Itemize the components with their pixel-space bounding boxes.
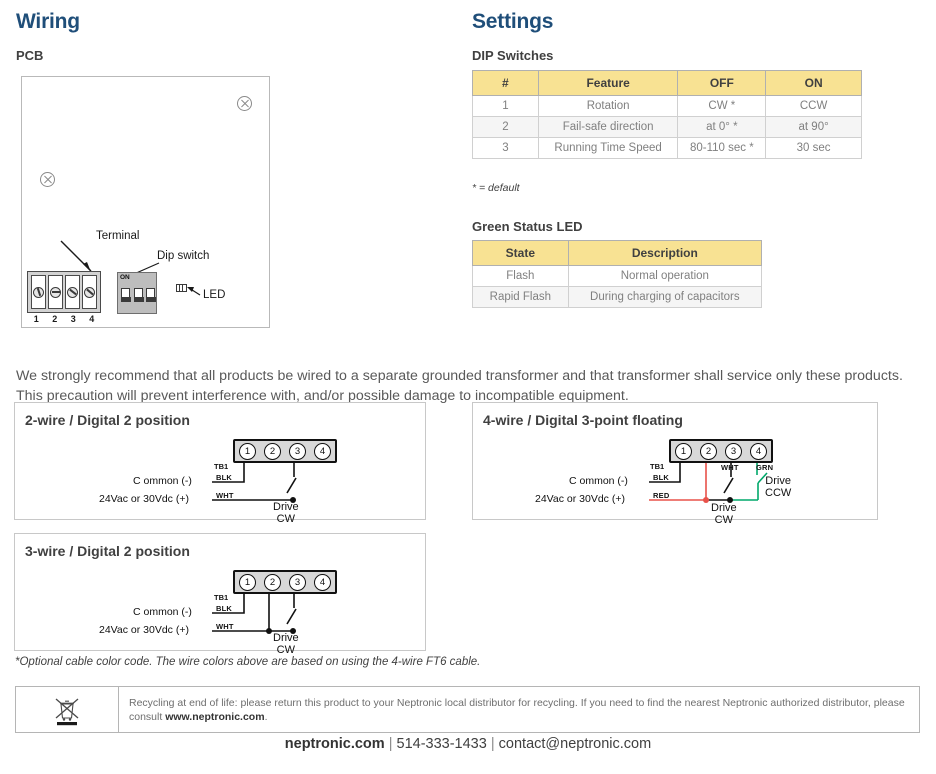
column-header: Feature	[538, 71, 678, 96]
cell: at 90°	[766, 117, 862, 138]
page-title-wiring: Wiring	[16, 10, 80, 34]
wire-label-wht: WHT	[216, 491, 234, 500]
led-icon	[176, 284, 187, 292]
terminal-screw-1	[31, 275, 46, 309]
cell: Fail-safe direction	[538, 117, 678, 138]
terminal-numbers: 1 2 3 4	[27, 314, 101, 324]
column-header: #	[473, 71, 539, 96]
subheading-pcb: PCB	[16, 48, 43, 63]
cell: 2	[473, 117, 539, 138]
dip-toggle-2	[134, 288, 143, 302]
table-header-row: State Description	[473, 241, 762, 266]
terminal-number: 1	[34, 314, 39, 324]
page-title-settings: Settings	[472, 10, 553, 34]
dip-switches-table: # Feature OFF ON 1 Rotation CW * CCW 2 F…	[472, 70, 862, 159]
label-supply: 24Vac or 30Vdc (+)	[535, 493, 625, 505]
dip-switch-component: ON	[117, 272, 157, 314]
label-drive-cw: DriveCW	[711, 502, 737, 526]
recycling-text-part2: .	[265, 711, 268, 723]
subheading-dip-switches: DIP Switches	[472, 48, 553, 63]
callout-terminal: Terminal	[96, 230, 139, 242]
wire-label-wht: WHT	[216, 622, 234, 631]
terminal-number: 2	[52, 314, 57, 324]
diagram-2-wire: 2-wire / Digital 2 position 1 2 3 4 TB1 …	[14, 402, 426, 520]
wire-label-grn: GRN	[756, 463, 773, 472]
wire-label-red: RED	[653, 491, 669, 500]
table-row: 3 Running Time Speed 80-110 sec * 30 sec	[473, 138, 862, 159]
wiring-schematic-4wire	[473, 403, 879, 521]
cell: Rapid Flash	[473, 287, 569, 308]
dip-on-label: ON	[120, 274, 130, 281]
label-common: C ommon (-)	[133, 606, 192, 618]
recycling-text: Recycling at end of life: please return …	[119, 687, 919, 732]
cell: 80-110 sec *	[678, 138, 766, 159]
label-common: C ommon (-)	[569, 475, 628, 487]
terminal-block	[27, 271, 101, 313]
table-header-row: # Feature OFF ON	[473, 71, 862, 96]
terminal-number: 3	[71, 314, 76, 324]
cell: 1	[473, 96, 539, 117]
cell: Running Time Speed	[538, 138, 678, 159]
callout-dip-switch: Dip switch	[157, 250, 209, 262]
cell: Rotation	[538, 96, 678, 117]
footer-separator: |	[487, 736, 499, 752]
column-header: Description	[568, 241, 761, 266]
cell: 30 sec	[766, 138, 862, 159]
optional-cable-note: *Optional cable color code. The wire col…	[15, 656, 480, 668]
footer-contact-line: neptronic.com | 514-333-1433 | contact@n…	[0, 736, 936, 752]
diagram-3-wire: 3-wire / Digital 2 position 1 2 3 4 TB1 …	[14, 533, 426, 651]
cell: During charging of capacitors	[568, 287, 761, 308]
table-row: 2 Fail-safe direction at 0° * at 90°	[473, 117, 862, 138]
footer-email[interactable]: contact@neptronic.com	[499, 736, 652, 752]
dip-toggle-1	[121, 288, 130, 302]
wire-label-blk: BLK	[653, 473, 669, 482]
table-row: Rapid Flash During charging of capacitor…	[473, 287, 762, 308]
wire-label-wht: WHT	[721, 463, 739, 472]
footer-separator: |	[385, 736, 397, 752]
table-row: 1 Rotation CW * CCW	[473, 96, 862, 117]
default-legend-note: * = default	[472, 182, 520, 194]
datasheet-page: Wiring PCB Terminal Dip switch LED 1 2 3…	[0, 0, 936, 774]
wire-label-blk: BLK	[216, 604, 232, 613]
cell: CCW	[766, 96, 862, 117]
cell: CW *	[678, 96, 766, 117]
label-common: C ommon (-)	[133, 475, 192, 487]
wiring-schematic-3wire	[15, 534, 427, 652]
dip-toggle-3	[146, 288, 155, 302]
terminal-number: 4	[89, 314, 94, 324]
cell: Normal operation	[568, 266, 761, 287]
cell: 3	[473, 138, 539, 159]
terminal-screw-3	[65, 275, 80, 309]
warning-paragraph: We strongly recommend that all products …	[16, 366, 920, 406]
table-row: Flash Normal operation	[473, 266, 762, 287]
column-header: ON	[766, 71, 862, 96]
column-header: State	[473, 241, 569, 266]
label-supply: 24Vac or 30Vdc (+)	[99, 493, 189, 505]
weee-crossed-bin-icon	[50, 693, 84, 727]
column-header: OFF	[678, 71, 766, 96]
callout-led: LED	[203, 289, 225, 301]
footer-phone[interactable]: 514-333-1433	[397, 736, 487, 752]
recycling-notice: Recycling at end of life: please return …	[15, 686, 920, 733]
label-supply: 24Vac or 30Vdc (+)	[99, 624, 189, 636]
wiring-schematic-2wire	[15, 403, 427, 521]
footer-website[interactable]: neptronic.com	[285, 736, 385, 752]
diagram-4-wire: 4-wire / Digital 3-point floating 1 2 3 …	[472, 402, 878, 520]
label-drive-cw: DriveCW	[273, 501, 299, 525]
label-drive-ccw: DriveCCW	[765, 475, 791, 499]
cell: Flash	[473, 266, 569, 287]
cell: at 0° *	[678, 117, 766, 138]
recycling-website-link[interactable]: www.neptronic.com	[165, 711, 264, 723]
weee-icon-cell	[16, 687, 119, 732]
terminal-screw-2	[48, 275, 63, 309]
green-status-led-table: State Description Flash Normal operation…	[472, 240, 762, 308]
wire-label-blk: BLK	[216, 473, 232, 482]
terminal-screw-4	[82, 275, 97, 309]
label-drive-cw: DriveCW	[273, 632, 299, 656]
subheading-green-status-led: Green Status LED	[472, 219, 583, 234]
